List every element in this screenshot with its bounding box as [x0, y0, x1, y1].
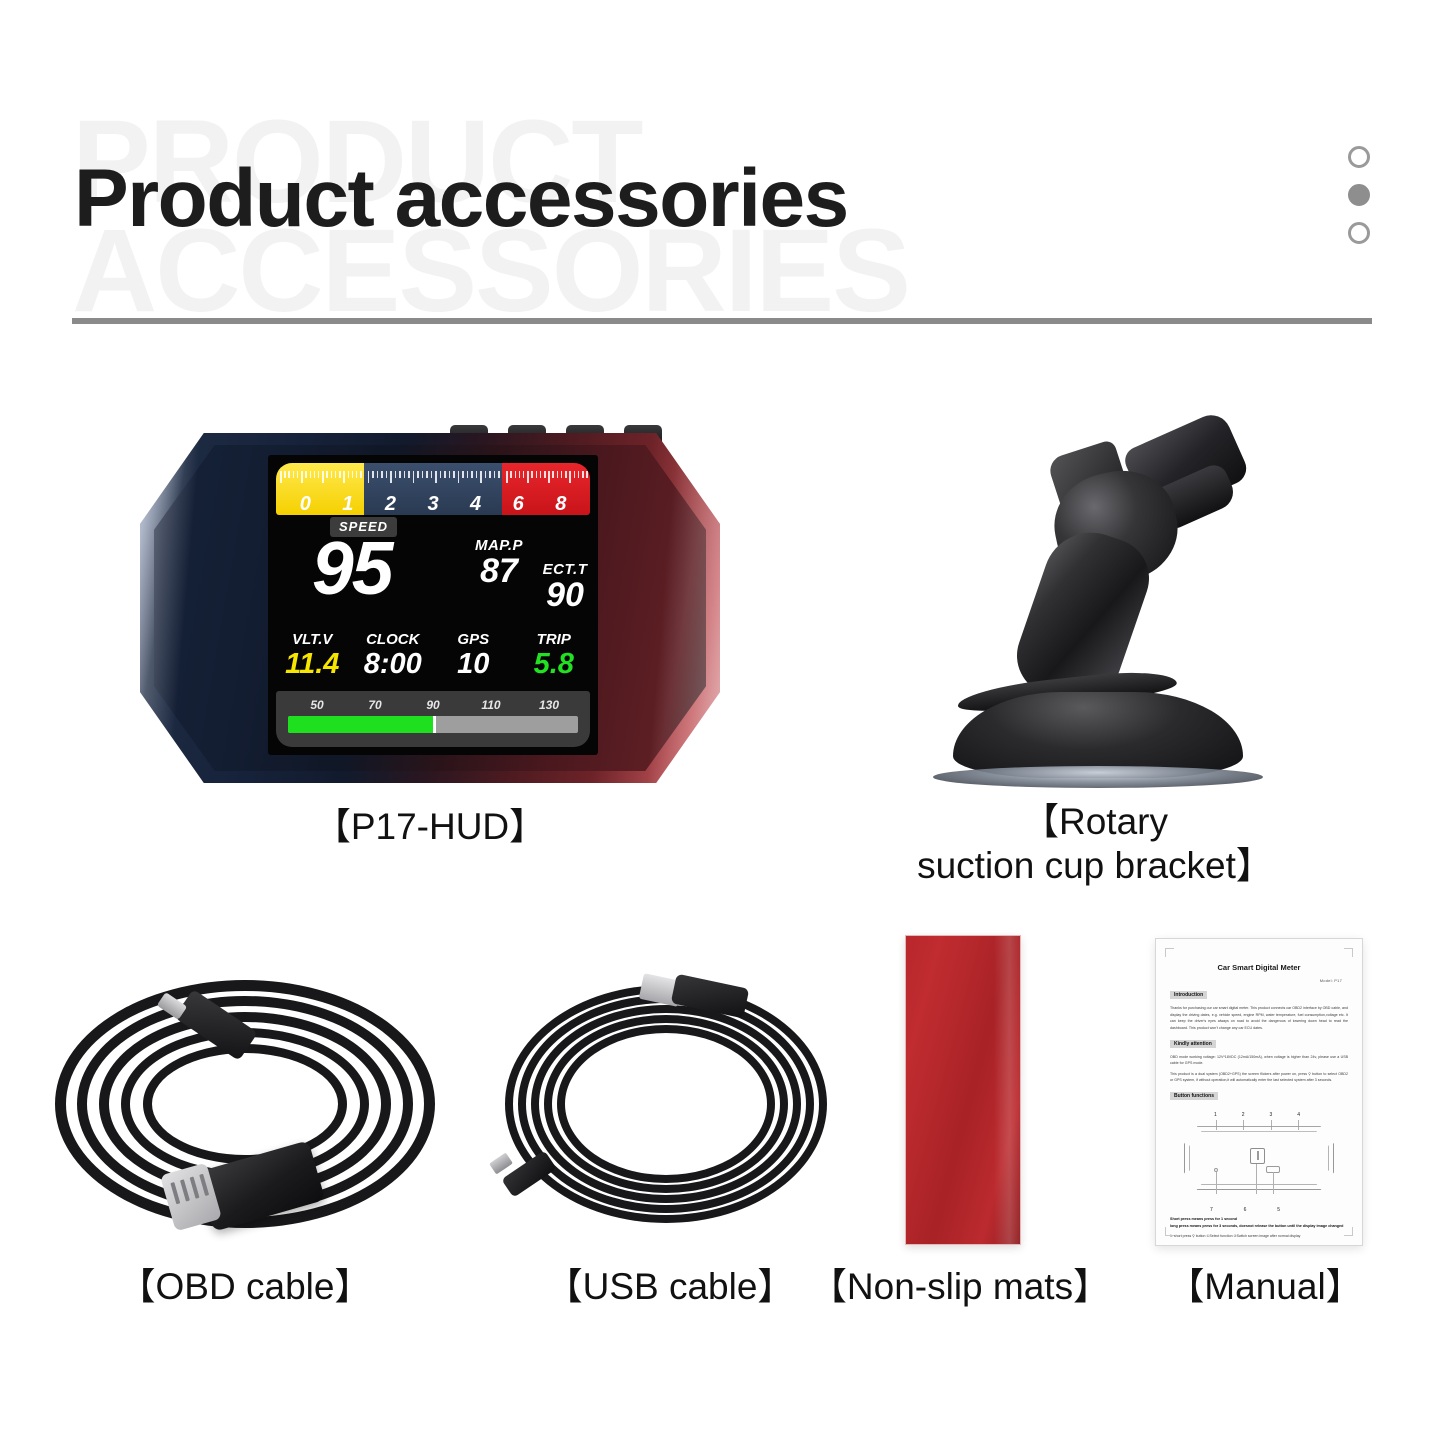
hud-metric-clock: CLOCK 8:00	[353, 631, 434, 681]
hud-metric-vlt-label: VLT.V	[272, 631, 353, 648]
manual-footer-text: 1. short press ⚲ button ①Select function…	[1170, 1233, 1348, 1239]
hud-body: 0 1 2 3 4 6 8 SPEED 95 MAP.P 87 E	[140, 433, 720, 783]
diagram-leader-5	[1273, 1172, 1274, 1194]
caption-non-slip-mat: 【Non-slip mats】	[800, 1265, 1120, 1309]
hud-speed-bar-track	[288, 716, 578, 733]
hud-speed-bar: 50 70 90 110 130	[276, 691, 590, 747]
manual-corner-tl	[1165, 948, 1174, 957]
rpm-label-0: 0	[284, 493, 327, 515]
diagram-number-2: 2	[1242, 1112, 1245, 1118]
manual-text-attention-2: This product is a dual system (OBD2+GPS)…	[1170, 1071, 1348, 1084]
rpm-ticks-yellow	[280, 471, 362, 485]
diagram-number-7: 7	[1210, 1207, 1213, 1213]
caption-bracket: 【Rotary suction cup bracket】	[860, 800, 1330, 887]
hud-field-ect: ECT.T 90	[520, 561, 598, 614]
hud-screen: 0 1 2 3 4 6 8 SPEED 95 MAP.P 87 E	[268, 455, 598, 755]
manual-text-introduction: Thanks for purchasing our car smart digi…	[1170, 1005, 1348, 1032]
diagram-number-5: 5	[1277, 1207, 1280, 1213]
product-hud-device: 0 1 2 3 4 6 8 SPEED 95 MAP.P 87 E	[120, 415, 740, 805]
manual-corner-bl	[1165, 1227, 1174, 1236]
rpm-label-2: 2	[369, 493, 412, 515]
hud-speed-bar-fill	[288, 716, 436, 733]
rpm-label-3: 3	[412, 493, 455, 515]
manual-text-attention-1: OBD mode working voltage: 12V*18VDC (12m…	[1170, 1054, 1348, 1067]
hud-metric-vlt-value: 11.4	[272, 648, 353, 681]
header-divider	[72, 318, 1372, 324]
manual-heading-introduction: Introduction	[1170, 991, 1207, 999]
accessories-row-top: 0 1 2 3 4 6 8 SPEED 95 MAP.P 87 E	[0, 390, 1445, 920]
hud-metric-gps-label: GPS	[433, 631, 514, 648]
page-dot-1[interactable]	[1348, 146, 1370, 168]
rpm-ticks-red	[506, 471, 588, 485]
speed-bar-tick-90: 90	[404, 698, 462, 712]
hud-metric-vlt: VLT.V 11.4	[272, 631, 353, 681]
hud-metric-clock-label: CLOCK	[353, 631, 434, 648]
manual-note-short-press: Short press means press for 1 second	[1170, 1217, 1348, 1221]
hud-metric-trip-label: TRIP	[514, 631, 595, 648]
obd-coil-5	[143, 1044, 347, 1164]
hud-metric-trip-value: 5.8	[514, 648, 595, 681]
rpm-label-1: 1	[327, 493, 370, 515]
manual-corner-tr	[1344, 948, 1353, 957]
product-usb-cable	[505, 985, 835, 1230]
speed-bar-tick-70: 70	[346, 698, 404, 712]
hud-field-ect-value: 90	[520, 578, 598, 614]
page-dot-3[interactable]	[1348, 222, 1370, 244]
diagram-leader-6	[1256, 1164, 1257, 1194]
mat-sheen	[994, 936, 1020, 1244]
diagram-number-3: 3	[1269, 1112, 1272, 1118]
product-manual: Car Smart Digital Meter Model: P17 Intro…	[1155, 938, 1363, 1246]
caption-usb-cable: 【USB cable】	[490, 1265, 850, 1309]
usb-cable-micro-tip	[489, 1153, 513, 1175]
hud-metric-trip: TRIP 5.8	[514, 631, 595, 681]
rpm-scale-labels: 0 1 2 3 4 6 8	[284, 493, 582, 515]
manual-corner-br	[1344, 1227, 1353, 1236]
manual-heading-button-functions: Button functions	[1170, 1092, 1218, 1100]
manual-title: Car Smart Digital Meter	[1170, 963, 1348, 972]
hud-rpm-gauge: 0 1 2 3 4 6 8	[276, 463, 590, 515]
hud-metric-clock-value: 8:00	[353, 648, 434, 681]
rpm-label-8: 8	[539, 493, 582, 515]
diagram-number-1: 1	[1214, 1112, 1217, 1118]
product-suction-bracket	[905, 420, 1285, 790]
manual-note-long-press: long press means press for 3 seconds, do…	[1170, 1224, 1348, 1228]
caption-manual: 【Manual】	[1130, 1265, 1400, 1309]
pagination-dots[interactable]	[1348, 146, 1374, 260]
manual-heading-attention: Kindly attention	[1170, 1040, 1216, 1048]
page-dot-2[interactable]	[1348, 184, 1370, 206]
speed-bar-tick-50: 50	[288, 698, 346, 712]
manual-diagram-top-numbers: 1 2 3 4	[1214, 1112, 1300, 1118]
diagram-number-6: 6	[1244, 1207, 1247, 1213]
caption-hud: 【P17-HUD】	[230, 805, 630, 849]
hud-metric-gps: GPS 10	[433, 631, 514, 681]
hud-speed-bar-labels: 50 70 90 110 130	[288, 698, 578, 712]
hud-speed-value: 95	[312, 531, 391, 606]
page-title: Product accessories	[74, 152, 848, 246]
product-non-slip-mat	[905, 935, 1021, 1245]
diagram-leader-7	[1216, 1172, 1217, 1194]
page-header: PRODUCT ACCESSORIES Product accessories	[0, 0, 1445, 340]
manual-device-diagram: 1 2 3 4 7 6 5	[1170, 1110, 1348, 1214]
hud-metrics-row: VLT.V 11.4 CLOCK 8:00 GPS 10 TRIP 5.8	[272, 631, 594, 681]
hud-metric-gps-value: 10	[433, 648, 514, 681]
product-obd-cable	[55, 980, 435, 1230]
usb-coil-5	[557, 1025, 775, 1183]
manual-diagram-bottom-numbers: 7 6 5	[1210, 1207, 1280, 1213]
diagram-device-port	[1250, 1148, 1265, 1164]
diagram-number-4: 4	[1297, 1112, 1300, 1118]
accessories-row-bottom: 【OBD cable】 【USB cable】 【Non-slip mats】 …	[0, 925, 1445, 1325]
rpm-ticks-blue	[368, 471, 500, 485]
manual-model: Model: P17	[1170, 978, 1348, 983]
caption-obd-cable: 【OBD cable】	[60, 1265, 430, 1309]
speed-bar-tick-110: 110	[462, 698, 520, 712]
bracket-suction-rim	[933, 766, 1263, 788]
speed-bar-tick-130: 130	[520, 698, 578, 712]
rpm-label-4: 4	[454, 493, 497, 515]
rpm-label-6: 6	[497, 493, 540, 515]
